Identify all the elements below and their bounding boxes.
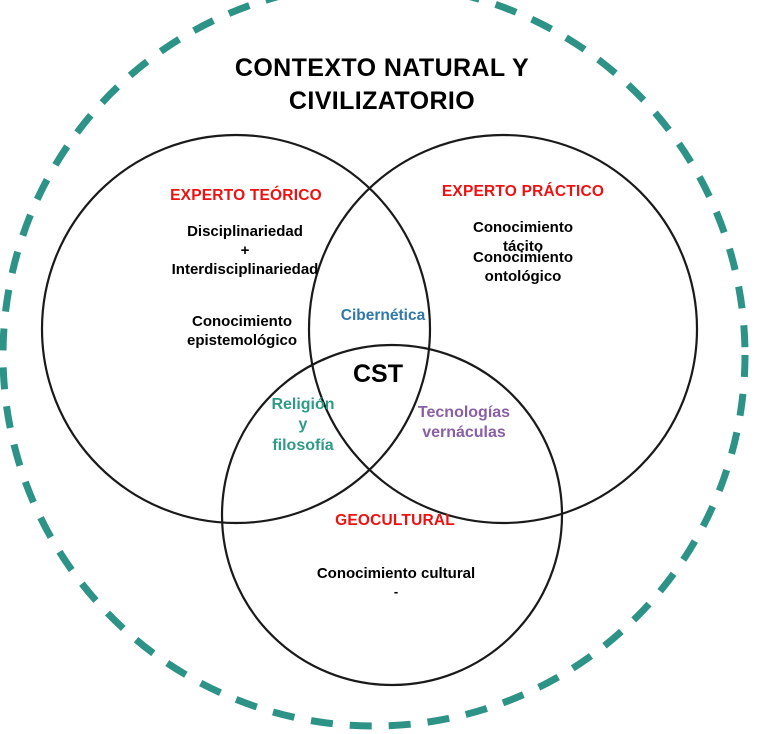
set-label-geocultural: GEOCULTURAL [300,511,490,531]
geocultural-item-dash: - [288,584,504,601]
set-label-experto-practico: EXPERTO PRÁCTICO [378,182,668,202]
intersection-label-cibernetica: Cibernética [310,306,456,326]
experto-teorico-item-disciplinariedad: Disciplinariedad + Interdisciplinariedad [84,222,406,280]
geocultural-item-conocimiento-cultural: Conocimiento cultural [288,564,504,583]
diagram-title: CONTEXTO NATURAL Y CIVILIZATORIO [132,52,632,118]
intersection-label-cst: CST [318,358,438,390]
intersection-label-tecnologias-vernaculas: Tecnologías vernáculas [388,403,540,444]
experto-practico-item-conocimiento-ontologico: Conocimiento ontológico [392,248,654,286]
set-label-experto-teorico: EXPERTO TEÓRICO [96,186,396,206]
intersection-label-religion-y-filosofia: Religión y filosofía [242,395,364,456]
venn-diagram-canvas: CONTEXTO NATURAL Y CIVILIZATORIO EXPERTO… [0,0,764,734]
